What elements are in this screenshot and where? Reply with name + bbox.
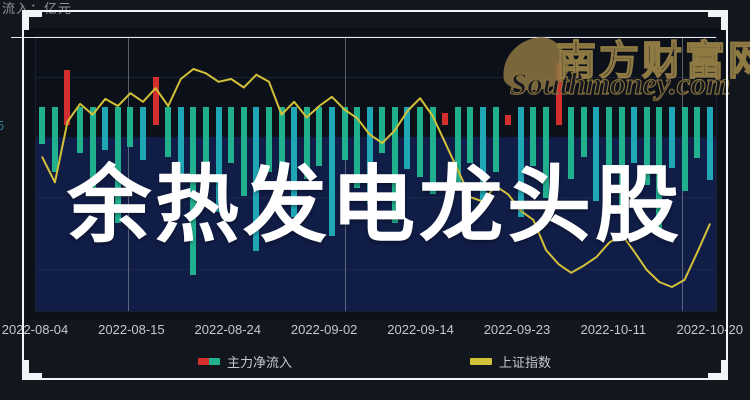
screenshot-stage: 流入：亿元 390.254462 2022-08-042022-08-15202…	[0, 0, 750, 400]
x-axis-label-0: 2022-08-04	[2, 322, 69, 337]
x-axis-label-7: 2022-10-20	[676, 322, 743, 337]
chart-legend: 主力净流入上证指数	[0, 352, 750, 376]
x-axis-label-2: 2022-08-24	[195, 322, 262, 337]
legend-swatch-icon	[198, 358, 220, 365]
x-axis-labels: 2022-08-042022-08-152022-08-242022-09-02…	[0, 322, 750, 344]
page-top-caption: 流入：亿元	[2, 0, 252, 20]
x-axis-label-6: 2022-10-11	[581, 322, 647, 337]
y-axis-fragment-2: .25	[0, 118, 4, 133]
legend-label: 主力净流入	[227, 352, 292, 371]
legend-item-0[interactable]: 主力净流入	[198, 352, 292, 371]
headline-text: 余热发电龙头股	[67, 163, 683, 247]
x-axis-label-3: 2022-09-02	[291, 322, 358, 337]
legend-swatch-icon	[470, 358, 492, 365]
x-axis-label-5: 2022-09-23	[484, 322, 551, 337]
x-axis-label-1: 2022-08-15	[98, 322, 165, 337]
headline-overlay: 余热发电龙头股	[0, 150, 750, 260]
legend-label: 上证指数	[499, 352, 551, 371]
legend-item-1[interactable]: 上证指数	[470, 352, 551, 371]
watermark-english: Southmoney.com	[510, 66, 730, 102]
x-axis-label-4: 2022-09-14	[387, 322, 454, 337]
watermark: 南方财富网 Southmoney.com	[500, 26, 746, 110]
